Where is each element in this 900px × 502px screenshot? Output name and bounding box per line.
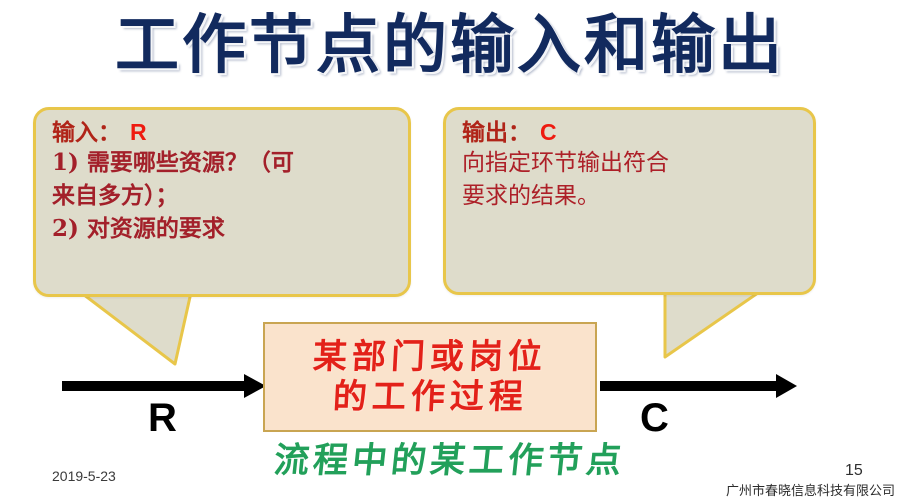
input-line-3: 2) 对资源的要求: [52, 213, 400, 246]
slide-canvas: 工作节点的输入和输出 输入：R 1) 需要哪些资源？（可 来自多方）； 2) 对…: [0, 0, 900, 502]
footer-company: 广州市春晓信息科技有限公司: [726, 480, 895, 499]
process-line-2: 的工作过程: [331, 377, 528, 417]
input-heading-label: 输入：: [52, 119, 121, 146]
input-heading-mark: R: [121, 119, 147, 145]
input-heading: 输入：R: [52, 118, 400, 147]
footer-date: 2019-5-23: [52, 468, 116, 484]
output-callout-body: 输出：C 向指定环节输出符合 要求的结果。: [462, 118, 805, 213]
output-arrow: [600, 374, 797, 398]
node-caption: 流程中的某工作节点: [0, 432, 900, 483]
input-bubble-tail: [75, 288, 192, 364]
output-callout-box: 输出：C 向指定环节输出符合 要求的结果。: [443, 107, 816, 295]
input-line-2: 来自多方）；: [52, 180, 400, 213]
process-node-box: 某部门或岗位 的工作过程: [263, 322, 597, 432]
page-number: 15: [845, 462, 863, 480]
input-callout-body: 输入：R 1) 需要哪些资源？（可 来自多方）； 2) 对资源的要求: [52, 118, 400, 245]
output-line-2: 要求的结果。: [462, 180, 805, 213]
process-line-1: 某部门或岗位: [312, 337, 548, 377]
output-line-1: 向指定环节输出符合: [462, 147, 805, 180]
output-heading: 输出：C: [462, 118, 805, 147]
input-callout-box: 输入：R 1) 需要哪些资源？（可 来自多方）； 2) 对资源的要求: [33, 107, 411, 297]
page-title: 工作节点的输入和输出: [0, 8, 900, 84]
input-line-1: 1) 需要哪些资源？（可: [52, 147, 400, 180]
output-bubble-tail: [665, 286, 768, 357]
output-heading-mark: C: [531, 119, 557, 145]
input-arrow: [62, 374, 266, 398]
output-heading-label: 输出：: [462, 119, 531, 146]
